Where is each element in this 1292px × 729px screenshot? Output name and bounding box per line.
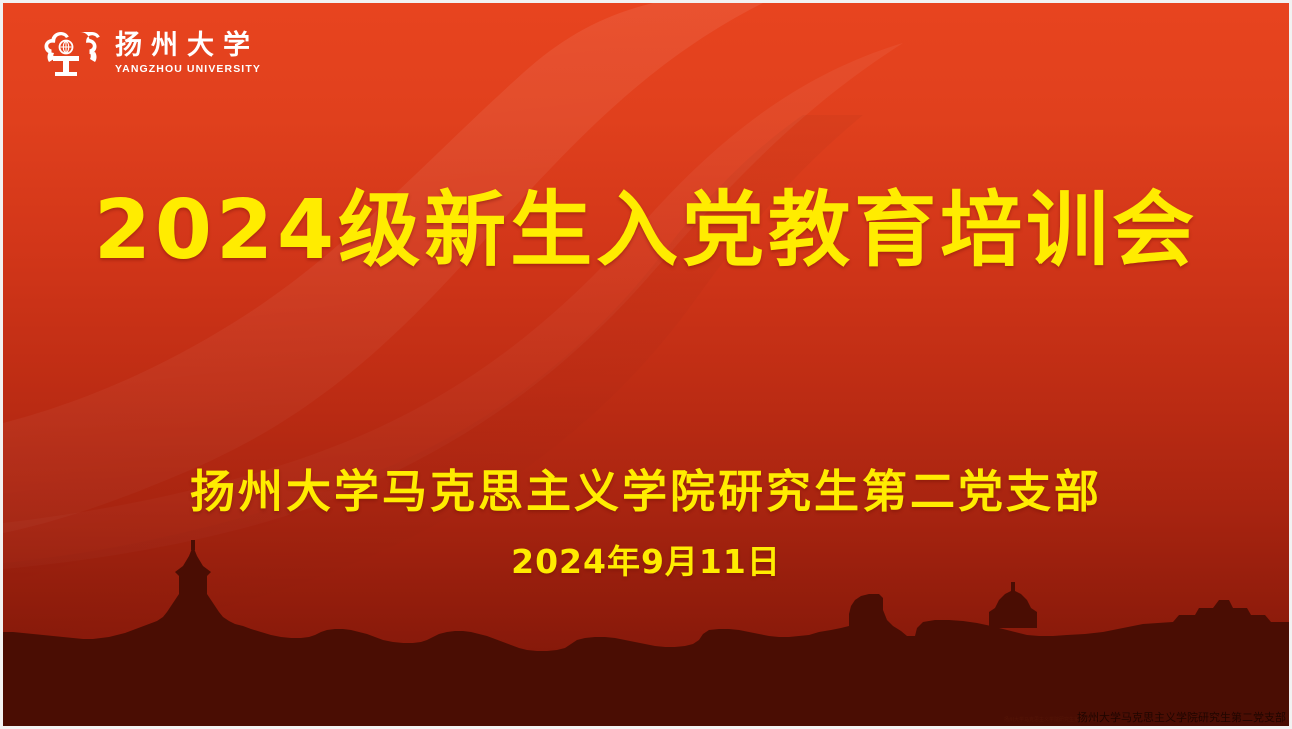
university-logo: 扬州大学 YANGZHOU UNIVERSITY — [43, 28, 261, 78]
watermark-primary: 扬州大学马克思主义学院研究生第二党支部 — [1077, 709, 1286, 725]
organization-line: 扬州大学马克思主义学院研究生第二党支部 — [0, 455, 1292, 520]
logo-name-en: YANGZHOU UNIVERSITY — [115, 64, 261, 75]
logo-wordmark: 扬州大学 YANGZHOU UNIVERSITY — [115, 32, 261, 75]
date-line: 2024年9月11日 — [0, 535, 1292, 583]
presentation-slide: 扬州大学 YANGZHOU UNIVERSITY 2024级新生入党教育培训会 … — [0, 0, 1292, 729]
page-title: 2024级新生入党教育培训会 — [0, 188, 1292, 274]
slide-background — [3, 3, 1289, 726]
yangzhou-university-emblem-icon — [43, 28, 101, 78]
logo-name-cn: 扬州大学 — [115, 32, 261, 59]
